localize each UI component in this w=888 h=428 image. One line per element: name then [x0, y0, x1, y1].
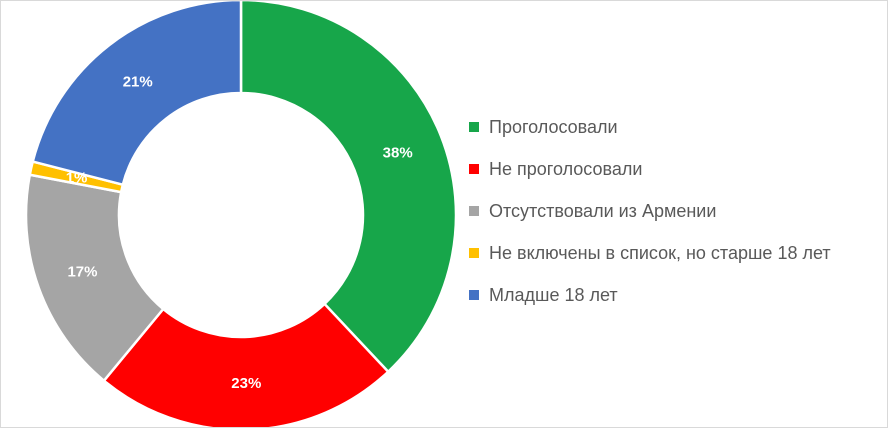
donut-slice[interactable] — [241, 1, 456, 372]
donut-slice-value-label: 38% — [383, 144, 413, 161]
legend-color-swatch-icon — [469, 164, 479, 174]
legend-color-swatch-icon — [469, 248, 479, 258]
legend-item-label: Отсутствовали из Армении — [489, 202, 716, 220]
legend-item[interactable]: Отсутствовали из Армении — [469, 190, 879, 232]
donut-slice[interactable] — [33, 1, 241, 185]
donut-slices-group — [26, 1, 456, 428]
donut-slice-value-label: 17% — [67, 264, 97, 281]
legend-item-label: Младше 18 лет — [489, 286, 618, 304]
legend-color-swatch-icon — [469, 290, 479, 300]
legend-item[interactable]: Не проголосовали — [469, 148, 879, 190]
legend-item-label: Проголосовали — [489, 118, 618, 136]
donut-slice-value-label: 1% — [66, 170, 88, 187]
donut-chart-frame: 38%23%17%1%21% ПроголосовалиНе проголосо… — [0, 0, 888, 428]
donut-slice-value-label: 21% — [123, 73, 153, 90]
legend-color-swatch-icon — [469, 122, 479, 132]
legend-color-swatch-icon — [469, 206, 479, 216]
donut-slice-value-label: 23% — [231, 375, 261, 392]
donut-chart-svg: 38%23%17%1%21% — [1, 1, 481, 428]
legend-item[interactable]: Не включены в список, но старше 18 лет — [469, 232, 879, 274]
donut-chart-plot-area: 38%23%17%1%21% — [1, 1, 481, 428]
legend-item-label: Не включены в список, но старше 18 лет — [489, 244, 831, 262]
legend-item[interactable]: Младше 18 лет — [469, 274, 879, 316]
chart-legend: ПроголосовалиНе проголосовалиОтсутствова… — [469, 106, 879, 316]
legend-item-label: Не проголосовали — [489, 160, 642, 178]
legend-item[interactable]: Проголосовали — [469, 106, 879, 148]
